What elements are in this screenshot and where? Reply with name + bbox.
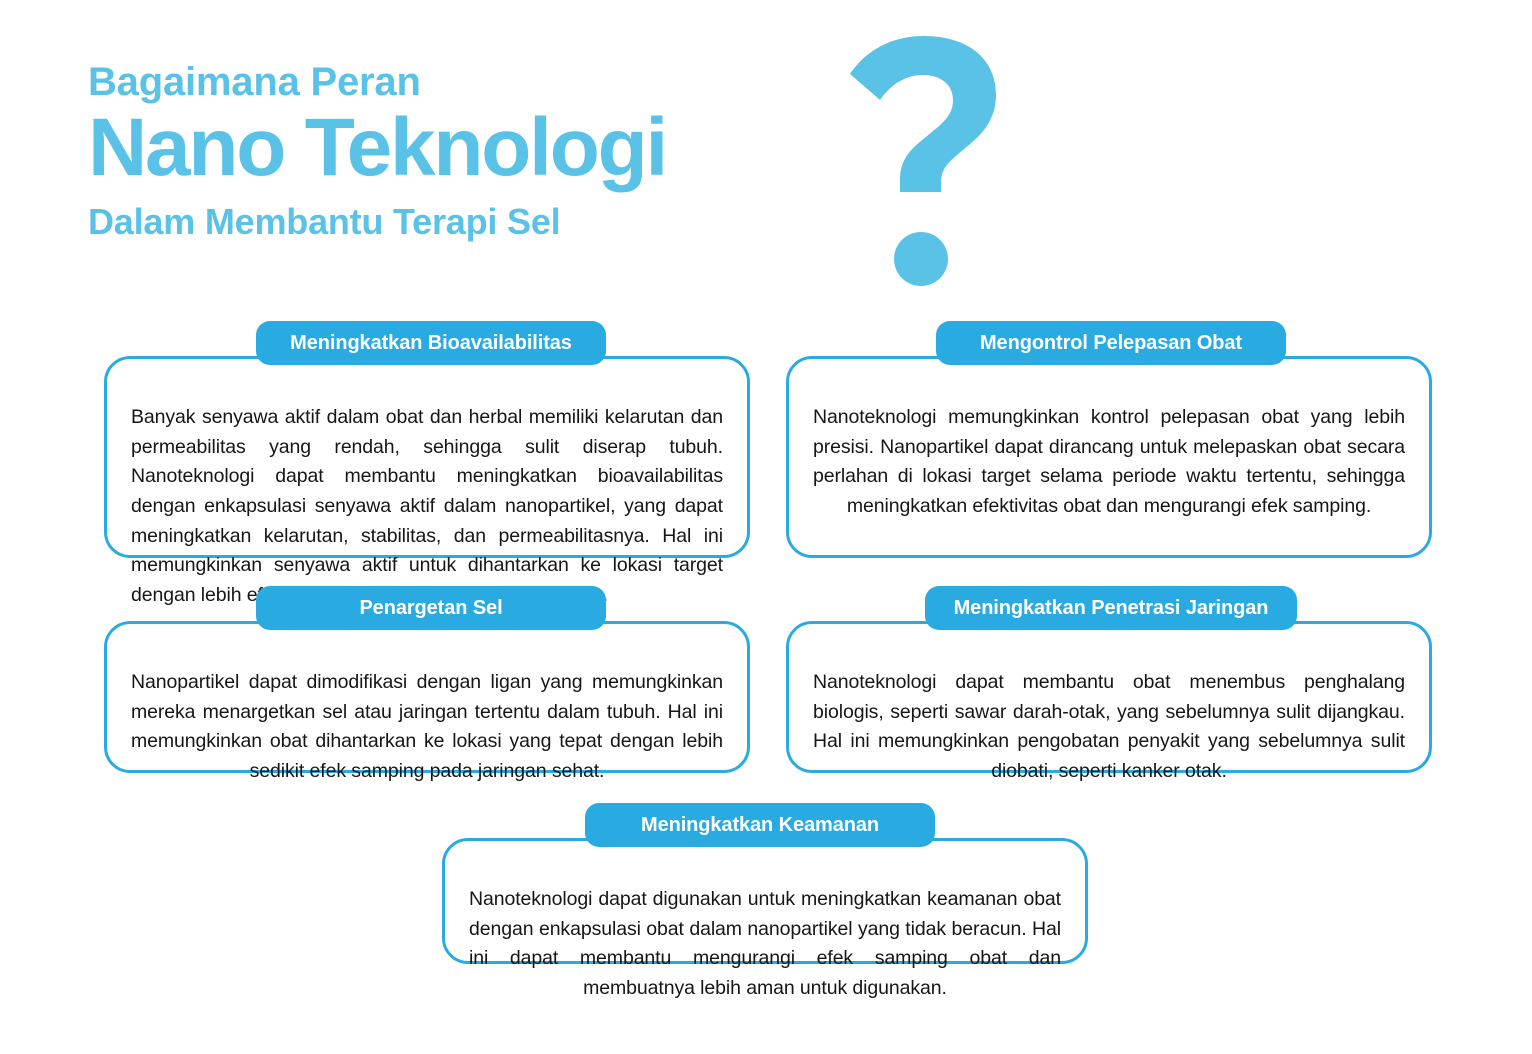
card-title-label: Penargetan Sel (345, 597, 516, 620)
card-title-label: Mengontrol Pelepasan Obat (966, 332, 1256, 355)
card-title-pill: Mengontrol Pelepasan Obat (936, 321, 1286, 365)
card-body-text: Nanoteknologi memungkinkan kontrol pelep… (813, 403, 1405, 522)
card-title-pill: Meningkatkan Bioavailabilitas (256, 321, 606, 365)
info-card: Nanoteknologi dapat digunakan untuk meni… (442, 838, 1088, 964)
card-body-text: Banyak senyawa aktif dalam obat dan herb… (131, 403, 723, 610)
info-card: Nanoteknologi dapat membantu obat menemb… (786, 621, 1432, 773)
page-header: Bagaimana Peran Nano Teknologi Dalam Mem… (88, 62, 1088, 282)
card-title-pill: Meningkatkan Keamanan (585, 803, 935, 847)
card-body-text: Nanoteknologi dapat membantu obat menemb… (813, 668, 1405, 787)
card-body-text: Nanoteknologi dapat digunakan untuk meni… (469, 885, 1061, 1004)
card-title-pill: Penargetan Sel (256, 586, 606, 630)
card-body-text: Nanopartikel dapat dimodifikasi dengan l… (131, 668, 723, 787)
page-title: Nano Teknologi (88, 106, 1088, 190)
card-title-label: Meningkatkan Bioavailabilitas (276, 332, 586, 355)
info-card: Banyak senyawa aktif dalam obat dan herb… (104, 356, 750, 558)
card-title-pill: Meningkatkan Penetrasi Jaringan (925, 586, 1297, 630)
header-eyebrow: Bagaimana Peran (88, 62, 1088, 102)
card-title-label: Meningkatkan Penetrasi Jaringan (940, 597, 1283, 620)
info-card: Nanopartikel dapat dimodifikasi dengan l… (104, 621, 750, 773)
info-card: Nanoteknologi memungkinkan kontrol pelep… (786, 356, 1432, 558)
card-title-label: Meningkatkan Keamanan (627, 814, 893, 837)
header-subtitle: Dalam Membantu Terapi Sel (88, 204, 1088, 240)
